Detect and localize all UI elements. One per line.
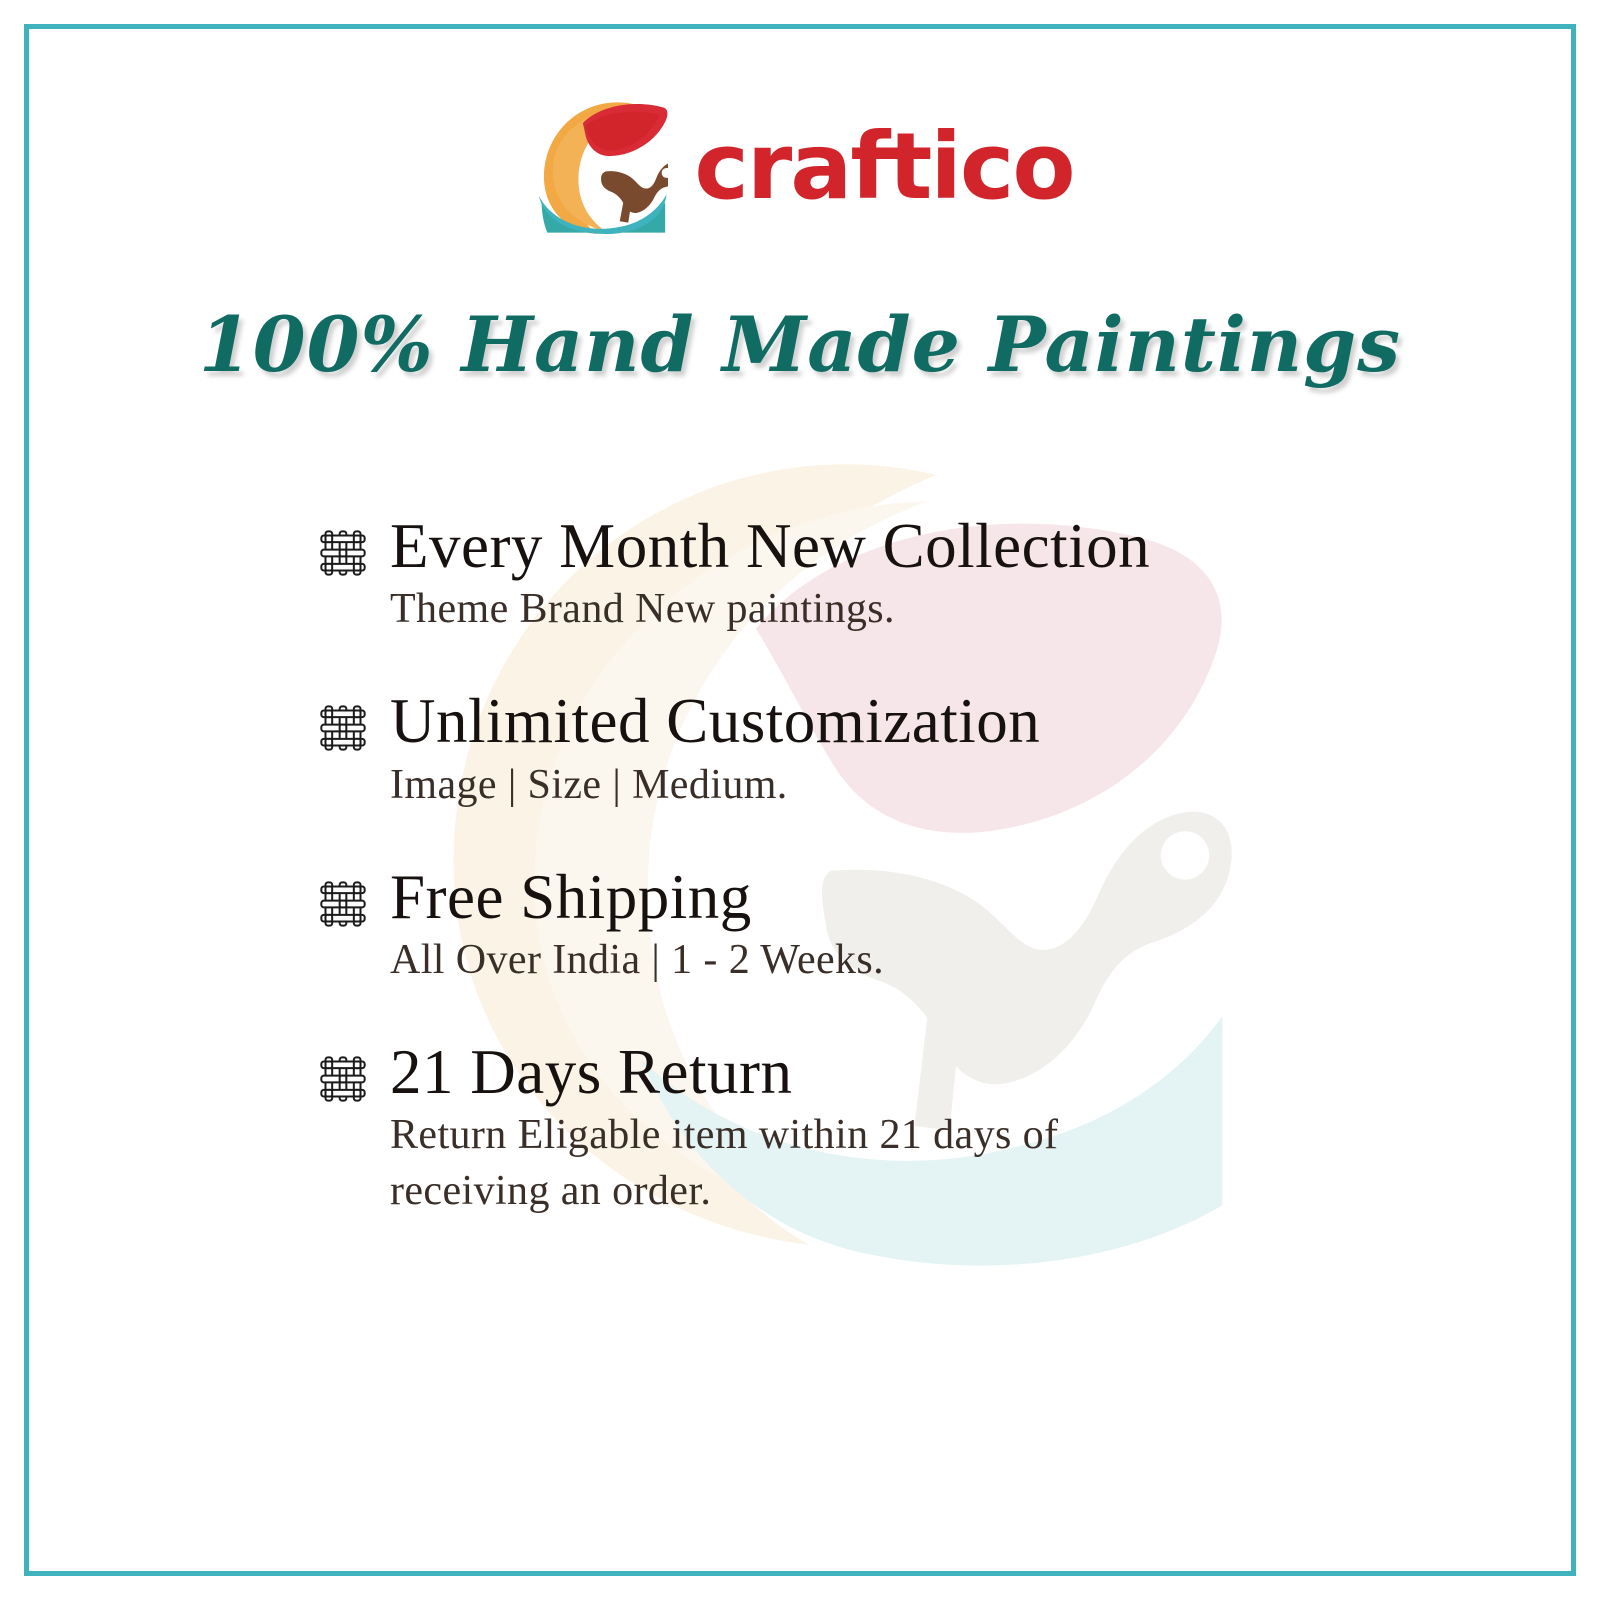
promo-card: craftico 100% Hand Made Paintings — [0, 0, 1600, 1600]
list-item: 21 Days Return Return Eligable item with… — [318, 1038, 1338, 1219]
woven-fabric-icon — [318, 703, 368, 753]
feature-subtitle: All Over India | 1 - 2 Weeks. — [390, 933, 1338, 988]
feature-title: Free Shipping — [390, 863, 1338, 931]
craftico-c-paintbrush-logo-icon — [526, 92, 668, 234]
feature-list: Every Month New Collection Theme Brand N… — [318, 512, 1338, 1219]
feature-subtitle: Theme Brand New paintings. — [390, 582, 1338, 637]
feature-title: Every Month New Collection — [390, 512, 1338, 580]
feature-subtitle: Image | Size | Medium. — [390, 758, 1338, 813]
page-title: 100% Hand Made Paintings — [0, 300, 1600, 389]
list-item: Free Shipping All Over India | 1 - 2 Wee… — [318, 863, 1338, 988]
brand-wordmark: craftico — [694, 121, 1073, 213]
feature-subtitle: Return Eligable item within 21 days of r… — [390, 1108, 1110, 1219]
woven-fabric-icon — [318, 528, 368, 578]
feature-title: Unlimited Customization — [390, 687, 1338, 755]
woven-fabric-icon — [318, 879, 368, 929]
feature-title: 21 Days Return — [390, 1038, 1338, 1106]
woven-fabric-icon — [318, 1054, 368, 1104]
list-item: Unlimited Customization Image | Size | M… — [318, 687, 1338, 812]
list-item: Every Month New Collection Theme Brand N… — [318, 512, 1338, 637]
brand-logo-lockup: craftico — [0, 92, 1600, 234]
